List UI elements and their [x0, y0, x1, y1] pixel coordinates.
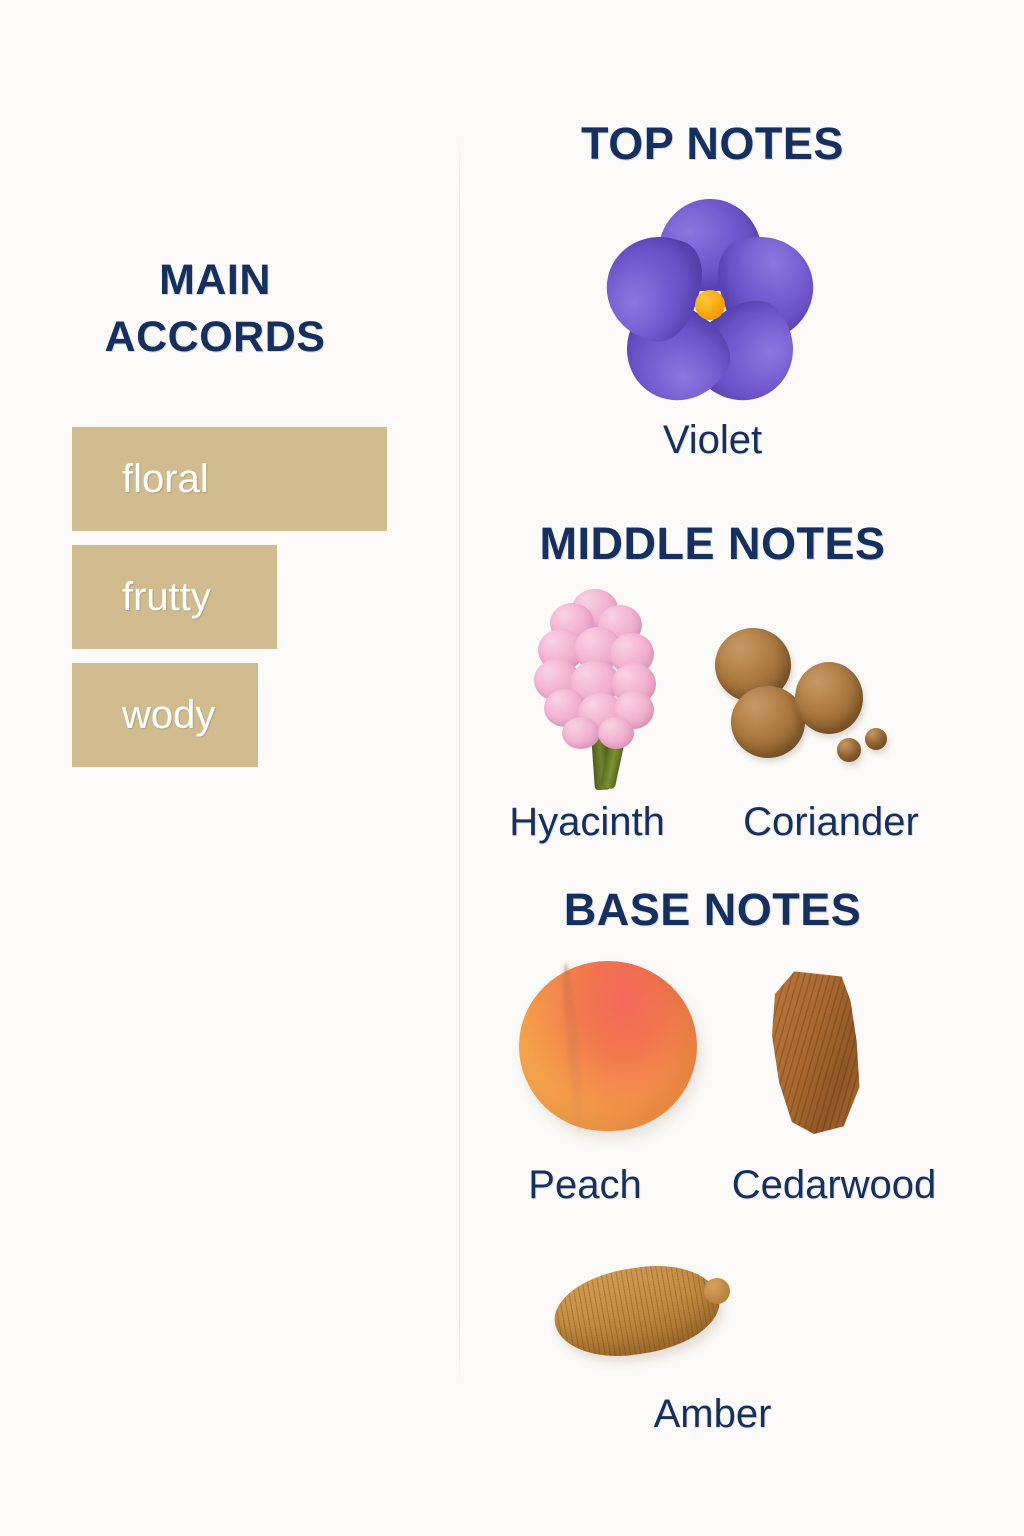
amber-pod-icon	[544, 1250, 744, 1375]
main-accords-title: MAIN ACCORDS	[0, 252, 430, 366]
amber-pod-body	[549, 1257, 725, 1365]
accord-bar-chart: floral frutty wody	[72, 427, 387, 781]
cedarwood-body	[748, 965, 882, 1141]
accord-label-frutty: frutty	[122, 575, 211, 620]
hyacinth-floret	[562, 717, 600, 749]
note-label-hyacinth: Hyacinth	[451, 800, 723, 845]
coriander-seeds-icon	[709, 610, 909, 785]
fragrance-notes-panel: TOP NOTES Violet MIDDLE NOTES	[459, 0, 1024, 1536]
accord-bar-wody: wody	[72, 663, 258, 767]
violet-center-icon	[695, 290, 725, 320]
cedarwood-chunk-icon	[739, 965, 919, 1145]
accord-label-wody: wody	[122, 693, 215, 738]
coriander-seed	[795, 662, 863, 734]
main-accords-title-line-1: MAIN	[0, 252, 430, 309]
main-accords-title-line-2: ACCORDS	[0, 309, 430, 366]
fragrance-notes-infographic: MAIN ACCORDS floral frutty wody TOP NOTE…	[0, 0, 1024, 1536]
accord-label-floral: floral	[122, 457, 209, 502]
coriander-seed	[731, 686, 805, 758]
coriander-seed-small	[837, 738, 861, 762]
note-label-violet: Violet	[459, 418, 966, 463]
section-heading-middle-notes: MIDDLE NOTES	[459, 518, 966, 570]
peach-body	[519, 961, 697, 1131]
note-label-amber: Amber	[459, 1392, 966, 1437]
coriander-seed-small	[865, 728, 887, 750]
hyacinth-floret	[598, 717, 634, 749]
peach-fruit-icon	[511, 955, 711, 1140]
note-label-cedarwood: Cedarwood	[678, 1163, 990, 1208]
note-label-coriander: Coriander	[691, 800, 971, 845]
accord-bar-frutty: frutty	[72, 545, 277, 649]
section-heading-top-notes: TOP NOTES	[459, 118, 966, 170]
main-accords-panel: MAIN ACCORDS floral frutty wody	[0, 0, 459, 1536]
note-label-peach: Peach	[457, 1163, 713, 1208]
accord-bar-floral: floral	[72, 427, 387, 531]
section-heading-base-notes: BASE NOTES	[459, 884, 966, 936]
violet-flower-icon	[600, 200, 820, 410]
hyacinth-flower-icon	[514, 585, 704, 790]
